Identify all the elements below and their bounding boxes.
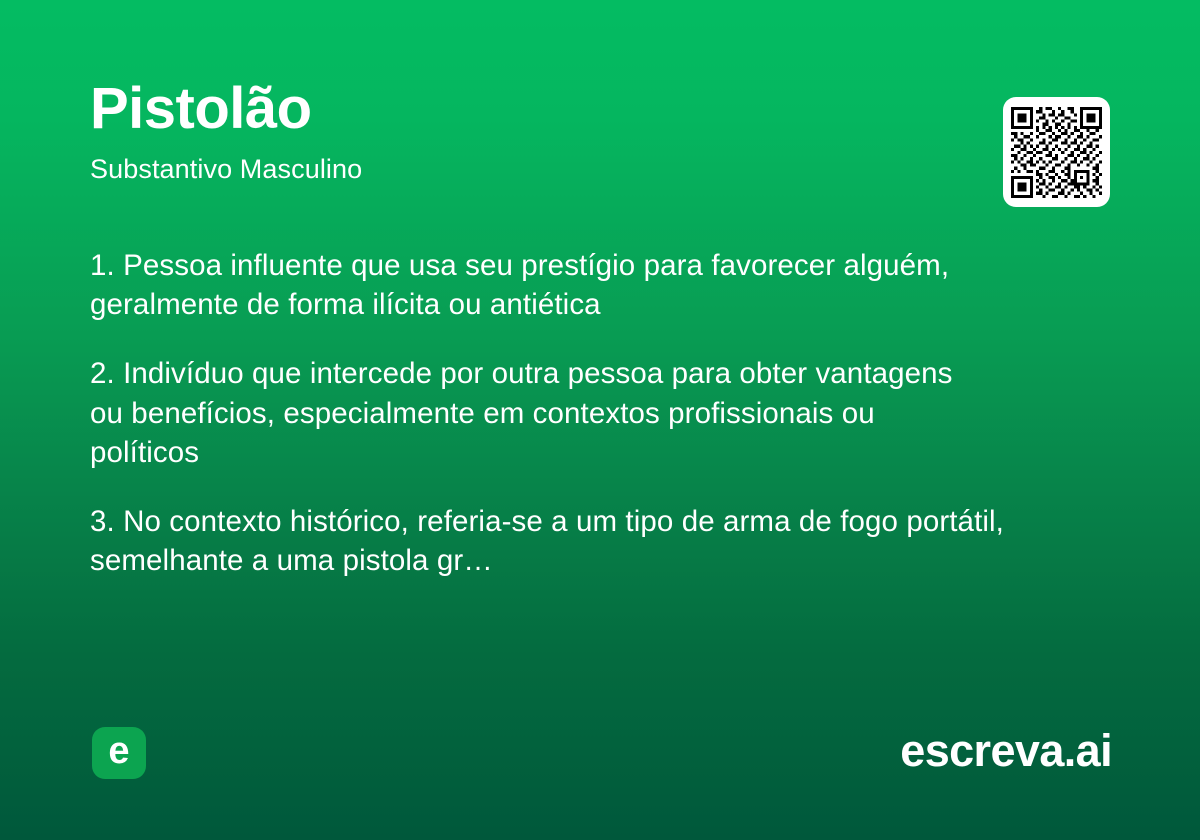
- definition-item: 2. Indivíduo que intercede por outra pes…: [90, 354, 970, 472]
- dictionary-card: Pistolão Substantivo Masculino: [0, 0, 1200, 840]
- qr-code-icon: [1011, 107, 1102, 198]
- card-footer: e escreva.ai: [90, 727, 1112, 779]
- brand-wordmark: escreva.ai: [900, 724, 1112, 778]
- definition-item: 3. No contexto histórico, referia-se a u…: [90, 502, 1090, 580]
- escreva-logo-icon: e: [92, 727, 146, 779]
- logo-letter: e: [108, 732, 129, 770]
- definition-item: 1. Pessoa influente que usa seu prestígi…: [90, 246, 1100, 324]
- card-header: Pistolão Substantivo Masculino: [90, 78, 1110, 186]
- word-class-label: Substantivo Masculino: [90, 153, 1110, 185]
- page-title: Pistolão: [90, 78, 1110, 139]
- definition-list: 1. Pessoa influente que usa seu prestígi…: [90, 246, 1100, 581]
- qr-code-card[interactable]: [1003, 97, 1110, 207]
